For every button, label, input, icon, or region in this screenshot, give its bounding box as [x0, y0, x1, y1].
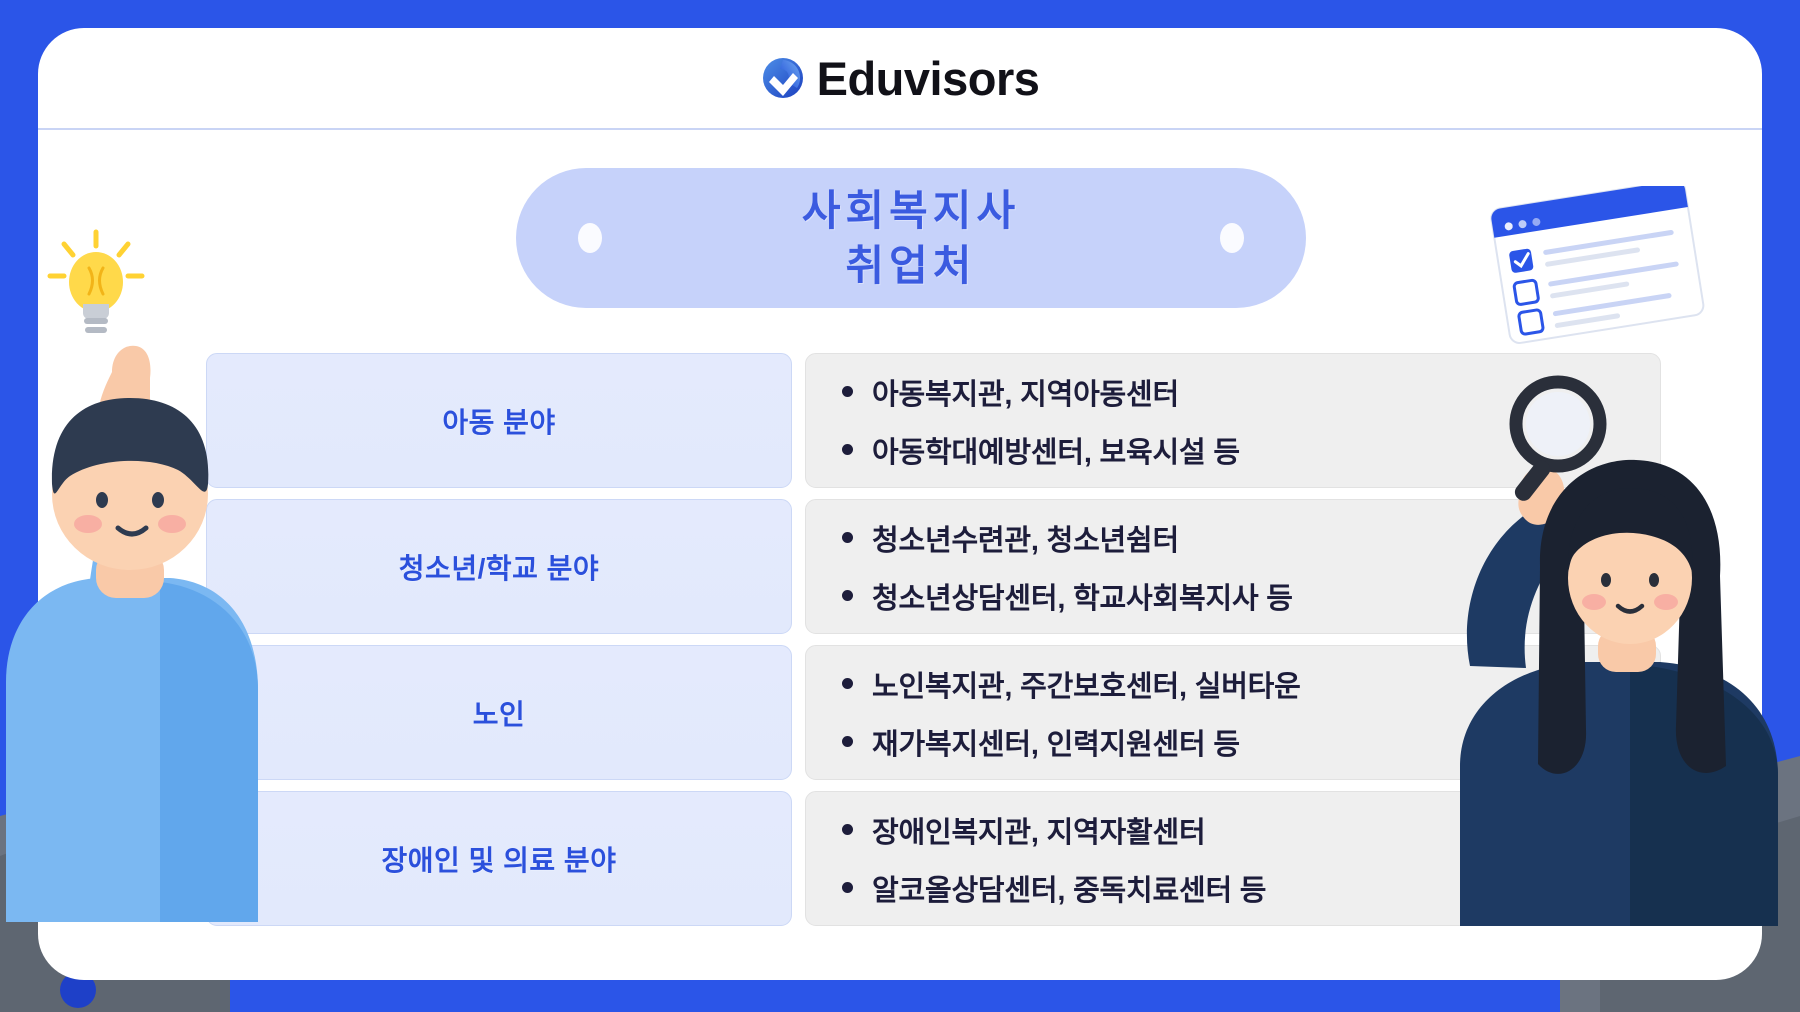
- list-item-text: 알코올상담센터, 중독치료센터 등: [872, 867, 1266, 909]
- row-items-disability-medical: 장애인복지관, 지역자활센터 알코올상담센터, 중독치료센터 등: [805, 791, 1661, 926]
- list-item-text: 청소년수련관, 청소년쉼터: [872, 517, 1179, 559]
- bullet-dot-icon: [842, 882, 853, 893]
- list-item: 아동학대예방센터, 보육시설 등: [842, 429, 1660, 471]
- bullet-dot-icon: [842, 590, 853, 601]
- table-row: 장애인 및 의료 분야 장애인복지관, 지역자활센터 알코올상담센터, 중독치료…: [206, 791, 1661, 926]
- list-item: 청소년수련관, 청소년쉼터: [842, 517, 1660, 559]
- bullet-dot-icon: [842, 678, 853, 689]
- page-title-line2: 취업처: [802, 238, 1020, 293]
- title-badge: 사회복지사 취업처: [516, 168, 1306, 308]
- table-row: 노인 노인복지관, 주간보호센터, 실버타운 재가복지센터, 인력지원센터 등: [206, 645, 1661, 780]
- bullet-dot-icon: [842, 736, 853, 747]
- bullet-dot-icon: [842, 532, 853, 543]
- list-item-text: 재가복지센터, 인력지원센터 등: [872, 721, 1240, 763]
- poster-canvas: Eduvisors 사회복지사 취업처 아동 분야 아동복지관, 지역아동센터: [0, 0, 1800, 1012]
- row-items-elderly: 노인복지관, 주간보호센터, 실버타운 재가복지센터, 인력지원센터 등: [805, 645, 1661, 780]
- page-title-line1: 사회복지사: [802, 183, 1020, 238]
- row-label-disability-medical: 장애인 및 의료 분야: [206, 791, 792, 926]
- bullet-dot-icon: [842, 386, 853, 397]
- row-items-youth-school: 청소년수련관, 청소년쉼터 청소년상담센터, 학교사회복지사 등: [805, 499, 1661, 634]
- pill-hole-left-icon: [578, 223, 602, 253]
- list-item: 재가복지센터, 인력지원센터 등: [842, 721, 1660, 763]
- brand-name: Eduvisors: [817, 51, 1040, 106]
- table-row: 청소년/학교 분야 청소년수련관, 청소년쉼터 청소년상담센터, 학교사회복지사…: [206, 499, 1661, 634]
- list-item: 장애인복지관, 지역자활센터: [842, 809, 1660, 851]
- row-label-child: 아동 분야: [206, 353, 792, 488]
- list-item: 아동복지관, 지역아동센터: [842, 371, 1660, 413]
- list-item-text: 청소년상담센터, 학교사회복지사 등: [872, 575, 1293, 617]
- list-item: 청소년상담센터, 학교사회복지사 등: [842, 575, 1660, 617]
- page-title: 사회복지사 취업처: [802, 183, 1020, 294]
- row-label-elderly: 노인: [206, 645, 792, 780]
- brand-header: Eduvisors: [38, 28, 1762, 130]
- row-items-child: 아동복지관, 지역아동센터 아동학대예방센터, 보육시설 등: [805, 353, 1661, 488]
- employment-table: 아동 분야 아동복지관, 지역아동센터 아동학대예방센터, 보육시설 등 청소년…: [206, 353, 1661, 926]
- list-item-text: 아동학대예방센터, 보육시설 등: [872, 429, 1240, 471]
- list-item-text: 장애인복지관, 지역자활센터: [872, 809, 1205, 851]
- table-row: 아동 분야 아동복지관, 지역아동센터 아동학대예방센터, 보육시설 등: [206, 353, 1661, 488]
- bullet-dot-icon: [842, 824, 853, 835]
- row-label-youth-school: 청소년/학교 분야: [206, 499, 792, 634]
- eduvisors-swirl-logo-icon: [761, 56, 805, 100]
- pill-hole-right-icon: [1220, 223, 1244, 253]
- poster-card: Eduvisors 사회복지사 취업처 아동 분야 아동복지관, 지역아동센터: [38, 28, 1762, 980]
- list-item-text: 아동복지관, 지역아동센터: [872, 371, 1179, 413]
- list-item-text: 노인복지관, 주간보호센터, 실버타운: [872, 663, 1301, 705]
- list-item: 노인복지관, 주간보호센터, 실버타운: [842, 663, 1660, 705]
- bullet-dot-icon: [842, 444, 853, 455]
- list-item: 알코올상담센터, 중독치료센터 등: [842, 867, 1660, 909]
